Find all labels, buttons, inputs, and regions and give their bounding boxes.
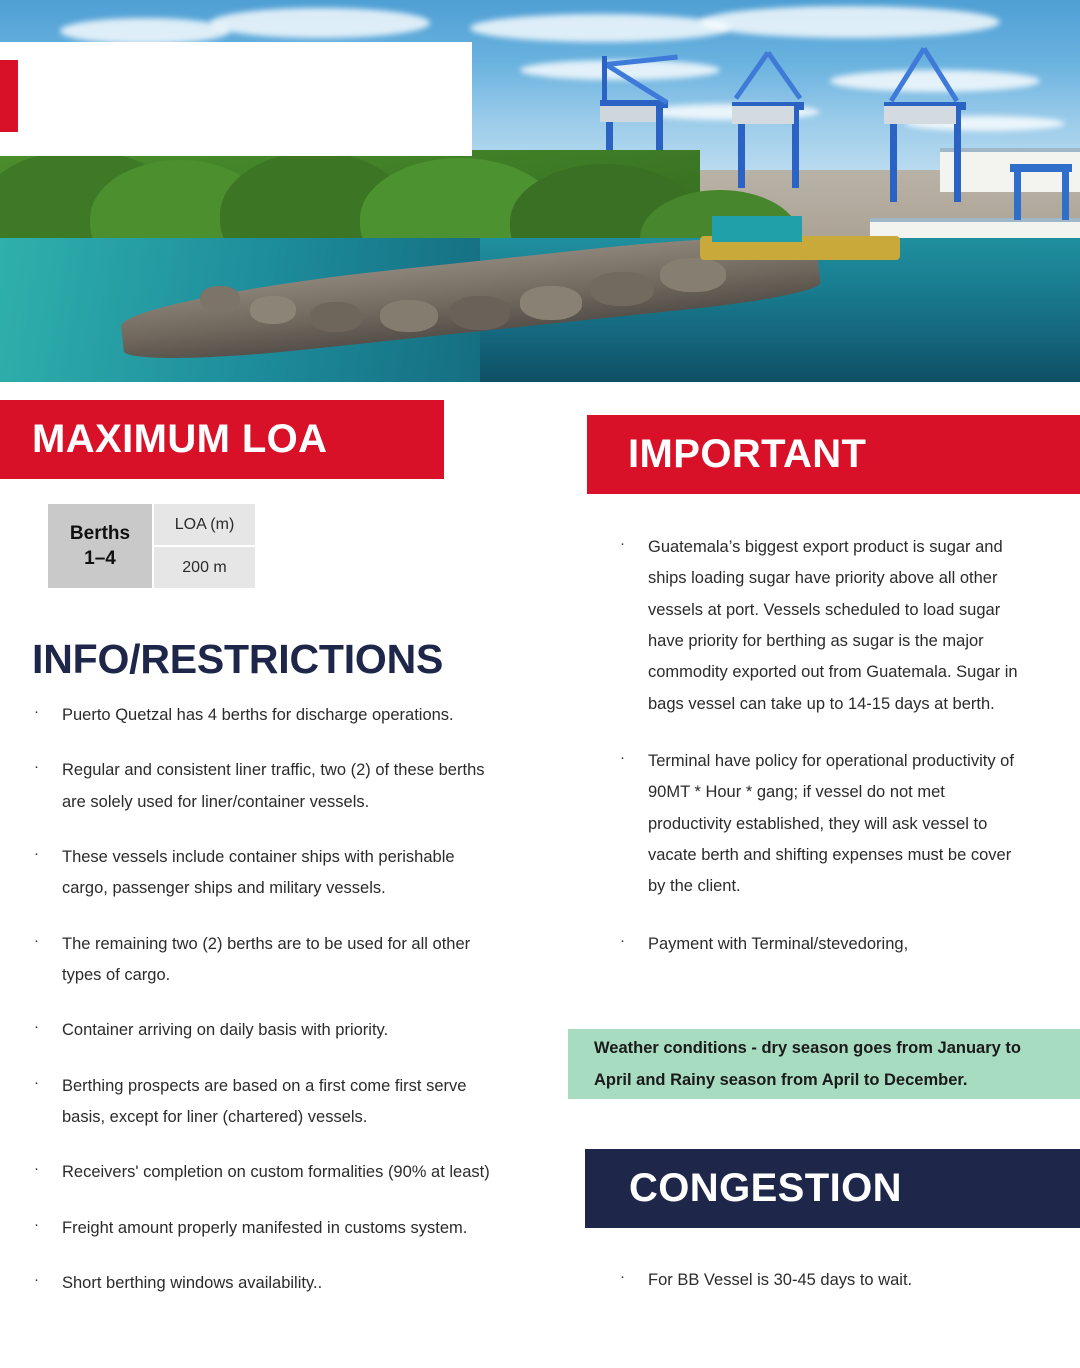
bullet-marker: ·: [34, 755, 62, 818]
list-item: · Freight amount properly manifested in …: [34, 1213, 514, 1244]
rock: [520, 286, 582, 320]
list-item-text: Berthing prospects are based on a first …: [62, 1071, 502, 1134]
list-item: · Receivers' completion on custom formal…: [34, 1157, 514, 1188]
port-information-sheet: GUATEMALA PUERTO QUETZAL MAXIMUM LOA Ber…: [0, 0, 1080, 1368]
cloud-shape: [470, 14, 730, 42]
list-item-text: For BB Vessel is 30-45 days to wait.: [648, 1265, 1028, 1296]
important-list: · Guatemala’s biggest export product is …: [620, 532, 1040, 986]
list-item: · Terminal have policy for operational p…: [620, 746, 1040, 903]
bullet-marker: ·: [34, 842, 62, 905]
congestion-banner-label: CONGESTION: [629, 1166, 902, 1211]
rock: [660, 258, 726, 292]
rock: [450, 296, 510, 330]
bullet-marker: ·: [34, 700, 62, 731]
weather-conditions-text: Weather conditions - dry season goes fro…: [568, 1032, 1063, 1096]
list-item-text: Puerto Quetzal has 4 berths for discharg…: [62, 700, 502, 731]
list-item-text: Payment with Terminal/stevedoring,: [648, 929, 1028, 960]
max-loa-banner: MAXIMUM LOA: [0, 400, 444, 479]
list-item-text: Terminal have policy for operational pro…: [648, 746, 1028, 903]
list-item: · Payment with Terminal/stevedoring,: [620, 929, 1040, 960]
important-banner-label: IMPORTANT: [628, 432, 866, 477]
list-item: · Regular and consistent liner traffic, …: [34, 755, 514, 818]
gantry-crane: [730, 44, 830, 184]
rock: [250, 296, 296, 324]
loa-header-cell: LOA (m): [154, 504, 255, 545]
berths-label: Berths: [70, 521, 130, 546]
list-item: · Container arriving on daily basis with…: [34, 1015, 514, 1046]
list-item: · Guatemala’s biggest export product is …: [620, 532, 1040, 720]
list-item-text: Short berthing windows availability..: [62, 1268, 502, 1299]
loa-column: LOA (m) 200 m: [154, 504, 255, 588]
list-item-text: Container arriving on daily basis with p…: [62, 1015, 502, 1046]
bullet-marker: ·: [34, 1213, 62, 1244]
bullet-marker: ·: [620, 1265, 648, 1296]
list-item: · Short berthing windows availability..: [34, 1268, 514, 1299]
title-accent-bar: [0, 60, 18, 132]
important-banner: IMPORTANT: [587, 415, 1080, 494]
bullet-marker: ·: [620, 746, 648, 903]
list-item-text: Freight amount properly manifested in cu…: [62, 1213, 502, 1244]
list-item: · Berthing prospects are based on a firs…: [34, 1071, 514, 1134]
cloud-shape: [210, 8, 430, 38]
bullet-marker: ·: [34, 1268, 62, 1299]
info-restrictions-list: · Puerto Quetzal has 4 berths for discha…: [34, 700, 514, 1323]
list-item: · These vessels include container ships …: [34, 842, 514, 905]
list-item-text: These vessels include container ships wi…: [62, 842, 502, 905]
list-item: · For BB Vessel is 30-45 days to wait.: [620, 1265, 1040, 1296]
gantry-crane: [880, 42, 990, 192]
weather-conditions-box: Weather conditions - dry season goes fro…: [568, 1029, 1080, 1099]
rock: [310, 302, 362, 332]
congestion-list: · For BB Vessel is 30-45 days to wait.: [620, 1265, 1040, 1296]
bullet-marker: ·: [34, 1015, 62, 1046]
bullet-marker: ·: [34, 1071, 62, 1134]
max-loa-table: Berths 1–4 LOA (m) 200 m: [48, 504, 255, 588]
bullet-marker: ·: [620, 929, 648, 960]
list-item-text: Guatemala’s biggest export product is su…: [648, 532, 1028, 720]
bullet-marker: ·: [34, 929, 62, 992]
list-item-text: The remaining two (2) berths are to be u…: [62, 929, 502, 992]
cloud-shape: [60, 18, 230, 44]
bullet-marker: ·: [34, 1157, 62, 1188]
congestion-banner: CONGESTION: [585, 1149, 1080, 1228]
max-loa-banner-label: MAXIMUM LOA: [32, 417, 327, 462]
list-item-text: Regular and consistent liner traffic, tw…: [62, 755, 502, 818]
cloud-shape: [700, 6, 1000, 38]
berths-value: 1–4: [84, 546, 116, 571]
bullet-marker: ·: [620, 532, 648, 720]
rock: [380, 300, 438, 332]
dock-shed: [712, 216, 802, 242]
rock: [200, 286, 240, 312]
list-item-text: Receivers' completion on custom formalit…: [62, 1157, 502, 1188]
berths-cell: Berths 1–4: [48, 504, 152, 588]
info-restrictions-heading: INFO/RESTRICTIONS: [32, 636, 443, 683]
loa-value-cell: 200 m: [154, 547, 255, 588]
list-item: · Puerto Quetzal has 4 berths for discha…: [34, 700, 514, 731]
rock: [590, 272, 654, 306]
list-item: · The remaining two (2) berths are to be…: [34, 929, 514, 992]
title-plate: [0, 42, 472, 156]
